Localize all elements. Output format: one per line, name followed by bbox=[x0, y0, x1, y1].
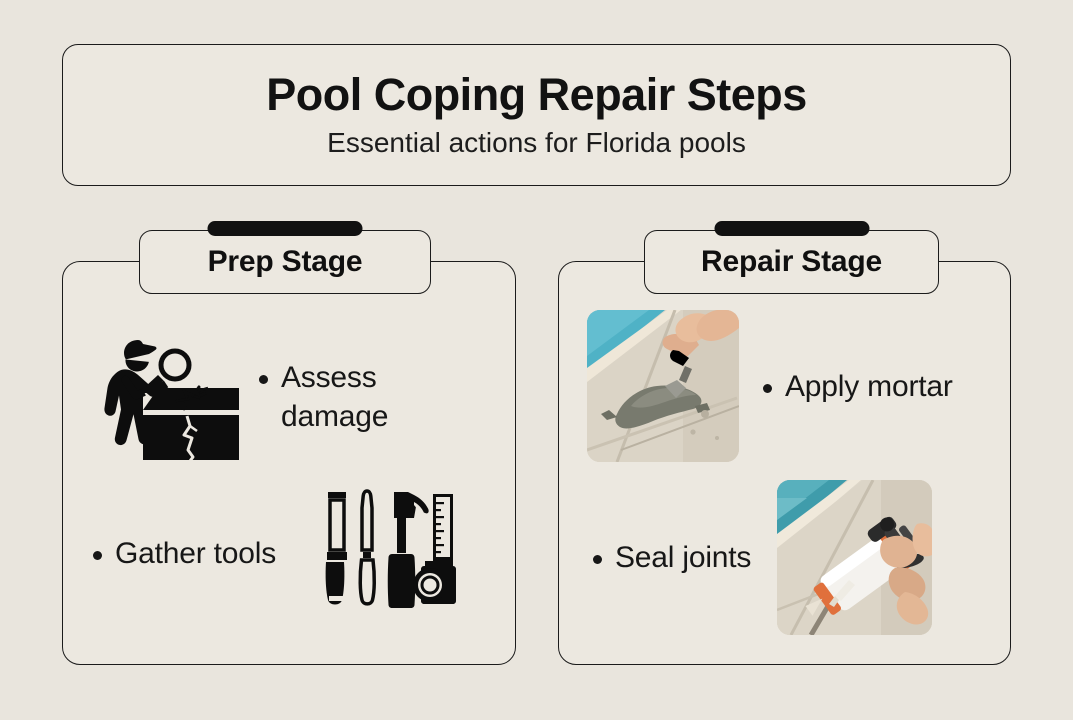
bullet-dot-icon bbox=[93, 551, 102, 560]
page-title: Pool Coping Repair Steps bbox=[266, 71, 807, 118]
list-item-apply-mortar: Apply mortar bbox=[587, 310, 987, 462]
badge-tab-icon bbox=[714, 221, 869, 236]
list-item-gather-tools: Gather tools bbox=[93, 488, 493, 618]
card-prep-stage: Prep Stage bbox=[62, 261, 516, 665]
inspector-crack-icon bbox=[91, 324, 241, 469]
caulking-gun-photo bbox=[777, 480, 932, 635]
bullet-dot-icon bbox=[259, 375, 268, 384]
list-item-assess-damage: Assess damage bbox=[91, 324, 491, 469]
card-repair-stage: Repair Stage bbox=[558, 261, 1011, 665]
badge-prep-stage: Prep Stage bbox=[139, 230, 431, 294]
badge-tab-icon bbox=[208, 221, 363, 236]
header-banner: Pool Coping Repair Steps Essential actio… bbox=[62, 44, 1011, 186]
hand-tools-icon bbox=[318, 488, 456, 618]
page-subtitle: Essential actions for Florida pools bbox=[327, 128, 746, 159]
list-item-label: Seal joints bbox=[593, 538, 751, 577]
list-item-seal-joints: Seal joints bbox=[593, 480, 993, 635]
bullet-dot-icon bbox=[763, 384, 772, 393]
mortar-trowel-photo bbox=[587, 310, 739, 462]
badge-label: Prep Stage bbox=[208, 245, 363, 279]
list-item-label: Assess damage bbox=[259, 358, 491, 436]
list-item-label: Gather tools bbox=[93, 534, 276, 573]
bullet-dot-icon bbox=[593, 555, 602, 564]
list-item-label: Apply mortar bbox=[763, 367, 953, 406]
badge-label: Repair Stage bbox=[701, 245, 882, 279]
badge-repair-stage: Repair Stage bbox=[644, 230, 939, 294]
